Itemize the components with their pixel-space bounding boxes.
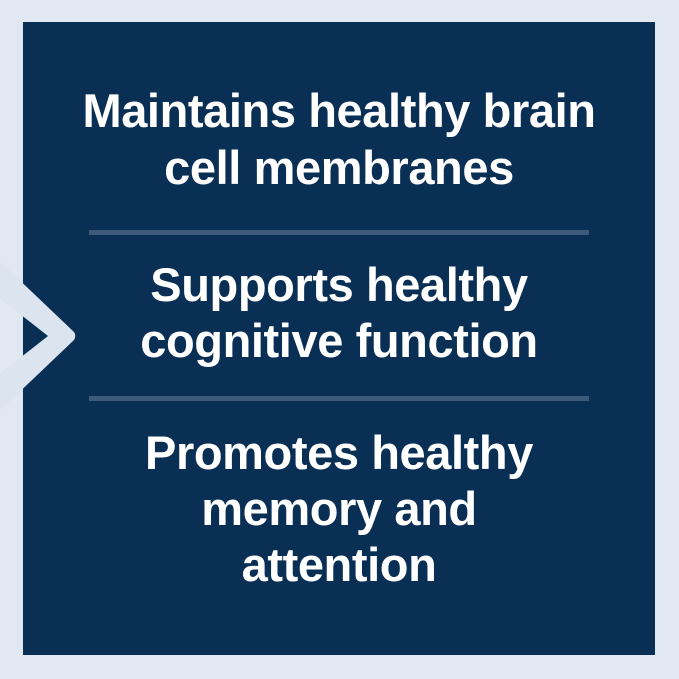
benefit-item-memory: Promotes healthy memory and attention	[79, 401, 599, 594]
benefits-list: Maintains healthy brain cell membranes S…	[23, 22, 655, 655]
benefits-infographic: Maintains healthy brain cell membranes S…	[0, 0, 679, 679]
benefit-item-membranes: Maintains healthy brain cell membranes	[79, 83, 599, 230]
benefit-item-cognition: Supports healthy cognitive function	[79, 235, 599, 396]
